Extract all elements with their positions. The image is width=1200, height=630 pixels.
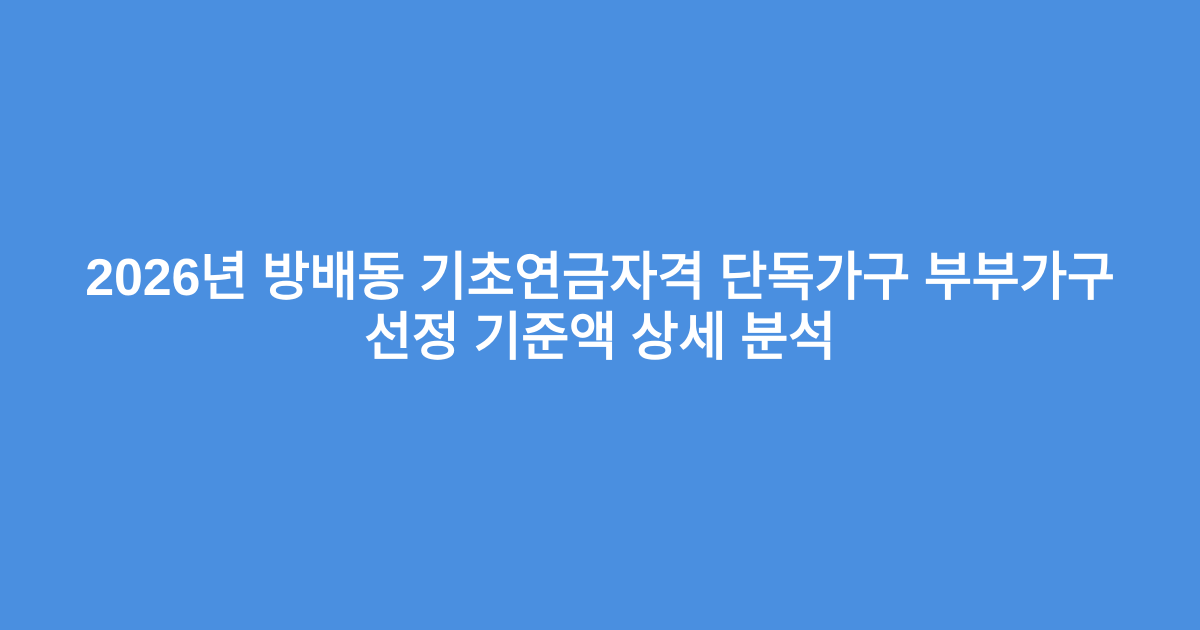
headline-line-1: 2026년 방배동 기초연금자격 단독가구 부부가구 [40, 248, 1160, 308]
og-card: 2026년 방배동 기초연금자격 단독가구 부부가구 선정 기준액 상세 분석 [0, 0, 1200, 630]
page-title: 2026년 방배동 기초연금자격 단독가구 부부가구 선정 기준액 상세 분석 [40, 248, 1160, 368]
headline-block: 2026년 방배동 기초연금자격 단독가구 부부가구 선정 기준액 상세 분석 [0, 248, 1200, 368]
headline-line-2: 선정 기준액 상세 분석 [40, 308, 1160, 368]
